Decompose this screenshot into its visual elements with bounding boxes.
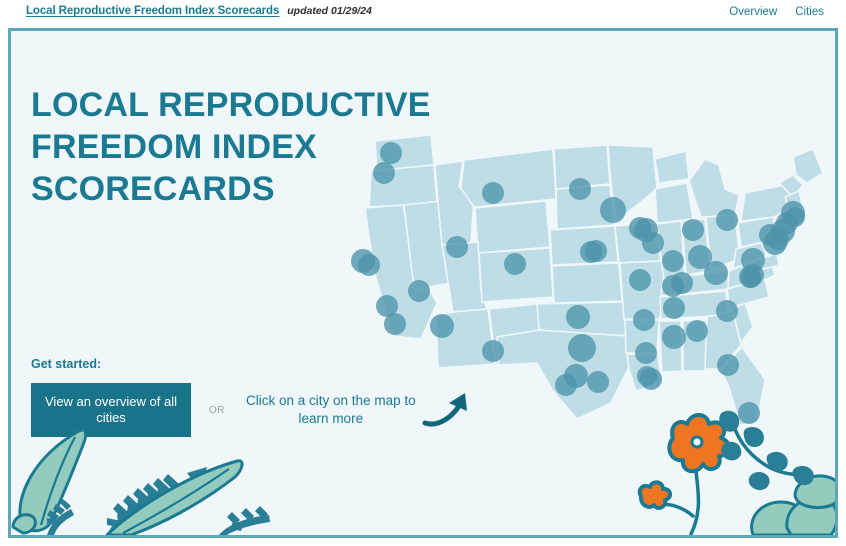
city-dot-madison[interactable] <box>642 232 664 254</box>
fern-cluster-center <box>107 467 207 535</box>
map-hint-text: Click on a city on the map to learn more <box>243 392 419 427</box>
city-dot-san-diego[interactable] <box>384 313 406 335</box>
site-title-link[interactable]: Local Reproductive Freedom Index Scoreca… <box>26 5 279 17</box>
fern-cluster-left <box>47 499 74 535</box>
city-dot-detroit[interactable] <box>682 219 704 241</box>
get-started-label: Get started: <box>31 357 101 371</box>
city-dot-charlotte[interactable] <box>716 300 738 322</box>
curved-arrow-icon <box>421 387 475 434</box>
city-dot-cleveland[interactable] <box>704 261 728 285</box>
city-dot-billings[interactable] <box>569 178 591 200</box>
city-dot-phoenix[interactable] <box>430 314 454 338</box>
nav-item-overview[interactable]: Overview <box>729 6 777 18</box>
last-updated-text: updated 01/29/24 <box>287 5 372 17</box>
city-dot-salt-lake-city[interactable] <box>446 236 468 258</box>
city-dot-atlanta[interactable] <box>686 320 708 342</box>
city-dot-tampa[interactable] <box>738 402 760 424</box>
city-dot-austin[interactable] <box>587 371 609 393</box>
city-dot-denver[interactable] <box>504 253 526 275</box>
city-dot-jackson[interactable] <box>635 342 657 364</box>
city-dot-wichita[interactable] <box>566 305 590 329</box>
city-dot-fort-worth[interactable] <box>555 374 577 396</box>
fern-cluster-right <box>219 506 270 535</box>
city-dot-providence[interactable] <box>785 207 805 227</box>
city-dot-st-louis[interactable] <box>629 269 651 291</box>
top-bar-left: Local Reproductive Freedom Index Scoreca… <box>26 5 372 17</box>
city-dot-grand-rapids[interactable] <box>716 209 738 231</box>
city-dot-des-moines[interactable] <box>580 241 602 263</box>
scorecards-landing-page: Local Reproductive Freedom Index Scoreca… <box>0 0 846 546</box>
city-dot-portland[interactable] <box>373 162 395 184</box>
city-dot-baton-rouge[interactable] <box>637 366 657 386</box>
city-dot-oakland[interactable] <box>358 254 380 276</box>
or-separator: OR <box>209 405 225 416</box>
city-dot-el-paso[interactable] <box>482 340 504 362</box>
top-bar: Local Reproductive Freedom Index Scoreca… <box>0 0 846 26</box>
city-dot-indianapolis[interactable] <box>662 250 684 272</box>
cta-row: View an overview of all cities OR Click … <box>31 383 475 437</box>
view-overview-button[interactable]: View an overview of all cities <box>31 383 191 437</box>
top-nav: Overview Cities <box>729 6 824 18</box>
city-dot-memphis[interactable] <box>633 309 655 331</box>
main-panel: Local Reproductive Freedom Index Scoreca… <box>8 28 838 538</box>
city-dot-nashville[interactable] <box>663 297 685 319</box>
city-dot-jacksonville[interactable] <box>717 354 739 376</box>
city-dot-birmingham[interactable] <box>662 325 686 349</box>
nav-item-cities[interactable]: Cities <box>795 6 824 18</box>
city-dot-minneapolis[interactable] <box>600 197 626 223</box>
city-dot-seattle[interactable] <box>380 142 402 164</box>
city-dot-las-vegas[interactable] <box>408 280 430 302</box>
city-dot-boise[interactable] <box>482 182 504 204</box>
city-dot-oklahoma-city[interactable] <box>568 334 596 362</box>
city-dot-richmond[interactable] <box>741 268 761 288</box>
city-dot-louisville[interactable] <box>662 275 684 297</box>
